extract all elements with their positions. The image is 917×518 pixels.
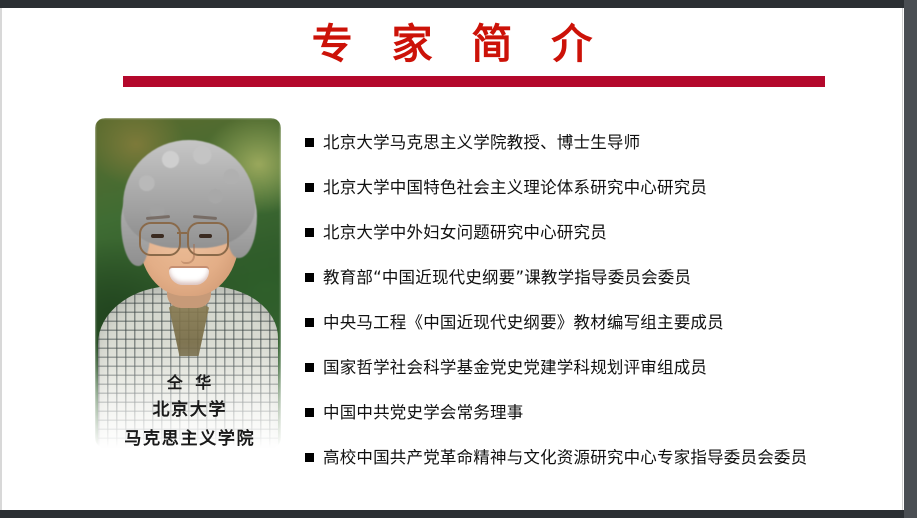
- expert-university: 北京大学: [87, 396, 291, 425]
- list-item-label: 北京大学马克思主义学院教授、博士生导师: [323, 132, 640, 154]
- square-bullet-icon: [305, 138, 314, 147]
- square-bullet-icon: [305, 228, 314, 237]
- viewer-right-edge: [902, 8, 903, 510]
- portrait-eye-left: [151, 234, 164, 238]
- list-item: 北京大学中外妇女问题研究中心研究员: [305, 210, 895, 255]
- portrait-smile: [169, 268, 209, 285]
- list-item-label: 国家哲学社会科学基金党史党建学科规划评审组成员: [323, 357, 707, 379]
- list-item-label: 教育部“中国近现代史纲要”课教学指导委员会委员: [323, 267, 691, 289]
- viewer-top-bar: [0, 0, 917, 8]
- page-title: 专 家 简 介: [2, 21, 902, 67]
- viewer-right-scrollbar[interactable]: [904, 0, 917, 518]
- square-bullet-icon: [305, 273, 314, 282]
- slide-canvas: 专 家 简 介: [2, 8, 902, 510]
- list-item-label: 中央马工程《中国近现代史纲要》教材编写组主要成员: [323, 312, 724, 334]
- viewer-left-edge: [0, 8, 2, 510]
- list-item: 中国中共党史学会常务理事: [305, 390, 895, 435]
- square-bullet-icon: [305, 453, 314, 462]
- square-bullet-icon: [305, 183, 314, 192]
- list-item: 中央马工程《中国近现代史纲要》教材编写组主要成员: [305, 300, 895, 345]
- portrait-eye-right: [199, 234, 212, 238]
- list-item-label: 北京大学中国特色社会主义理论体系研究中心研究员: [323, 177, 707, 199]
- list-item: 北京大学中国特色社会主义理论体系研究中心研究员: [305, 165, 895, 210]
- square-bullet-icon: [305, 408, 314, 417]
- square-bullet-icon: [305, 318, 314, 327]
- portrait-eyeglass-bridge: [177, 232, 187, 234]
- portrait-caption: 仝 华 北京大学 马克思主义学院: [87, 370, 291, 454]
- list-item-label: 北京大学中外妇女问题研究中心研究员: [323, 222, 607, 244]
- expert-name: 仝 华: [87, 370, 291, 396]
- portrait-eyeglass-left: [139, 222, 181, 256]
- list-item: 高校中国共产党革命精神与文化资源研究中心专家指导委员会委员: [305, 435, 895, 480]
- list-item-label: 高校中国共产党革命精神与文化资源研究中心专家指导委员会委员: [323, 447, 807, 469]
- credentials-list: 北京大学马克思主义学院教授、博士生导师 北京大学中国特色社会主义理论体系研究中心…: [305, 120, 895, 480]
- square-bullet-icon: [305, 363, 314, 372]
- expert-school: 马克思主义学院: [87, 425, 291, 454]
- list-item-label: 中国中共党史学会常务理事: [323, 402, 523, 424]
- portrait-nose: [181, 244, 195, 264]
- viewer-bottom-bar: [0, 510, 917, 518]
- slide-viewer: 专 家 简 介: [0, 0, 917, 518]
- title-underline-bar: [123, 76, 825, 87]
- list-item: 国家哲学社会科学基金党史党建学科规划评审组成员: [305, 345, 895, 390]
- list-item: 北京大学马克思主义学院教授、博士生导师: [305, 120, 895, 165]
- list-item: 教育部“中国近现代史纲要”课教学指导委员会委员: [305, 255, 895, 300]
